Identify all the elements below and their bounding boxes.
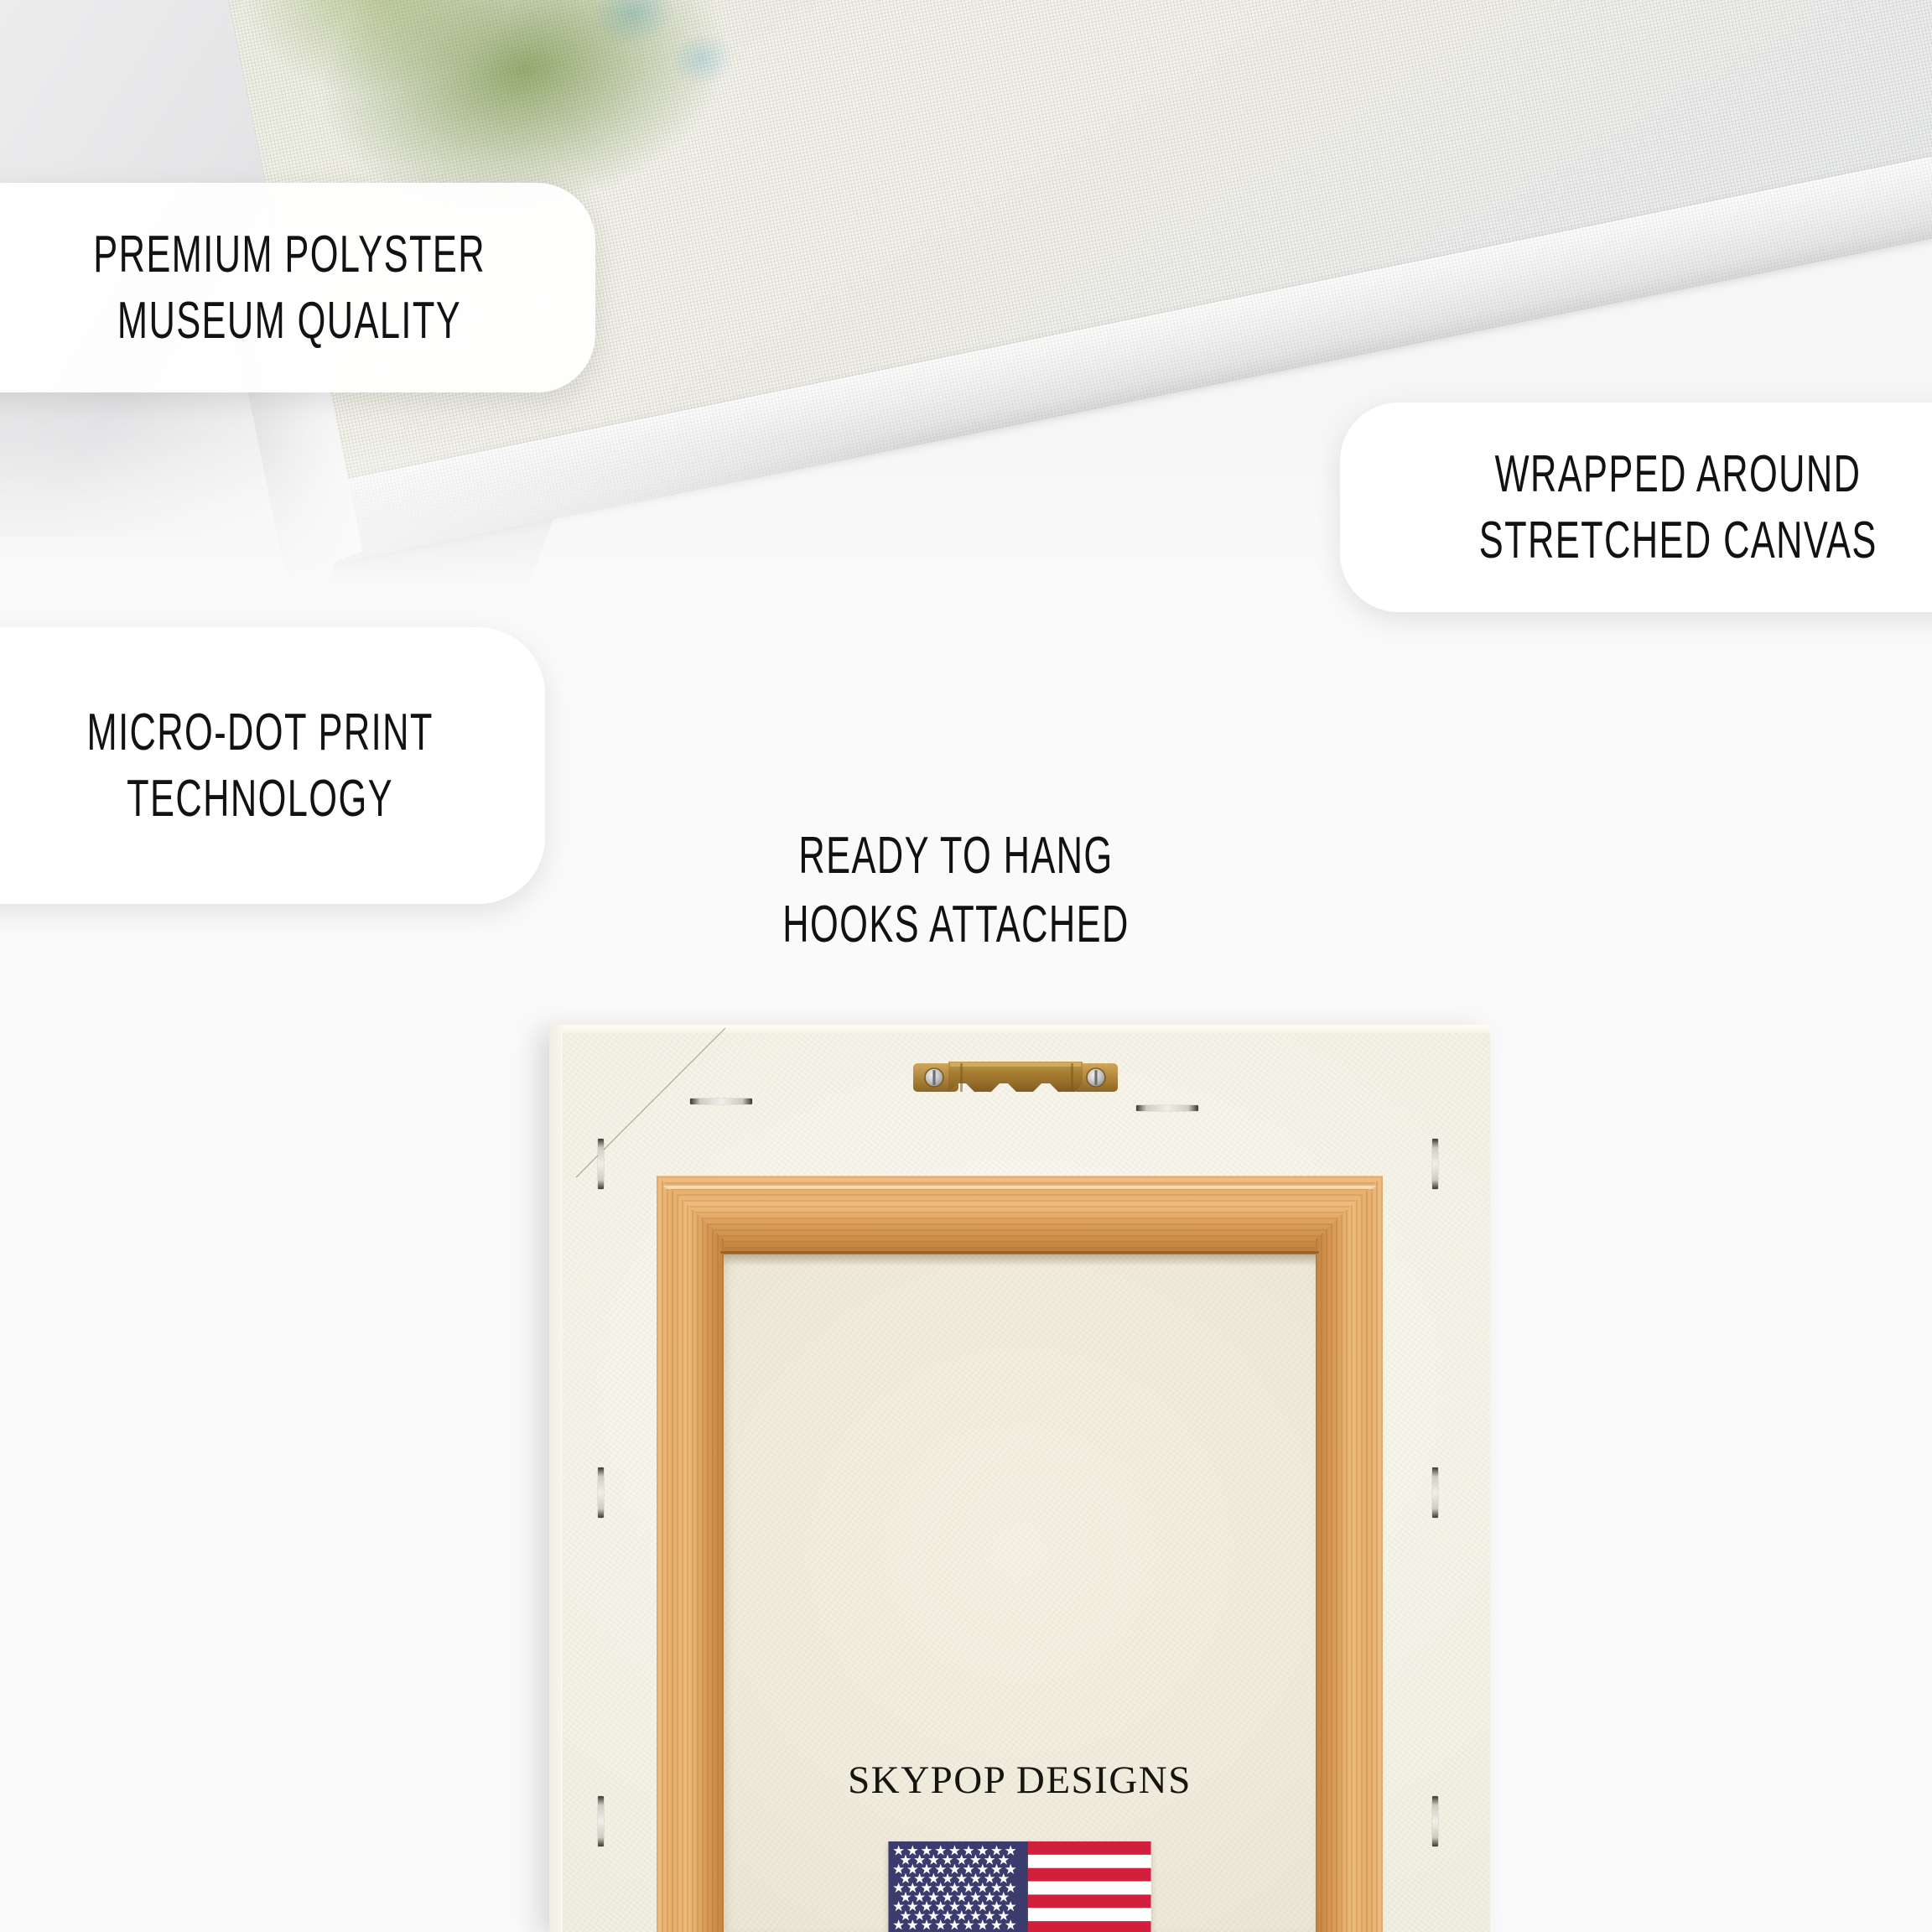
staple-icon bbox=[1136, 1105, 1198, 1111]
staple-icon bbox=[598, 1139, 604, 1189]
stretcher-bar-right bbox=[1316, 1176, 1383, 1932]
badge-microdot-line1: MICRO-DOT PRINT bbox=[86, 699, 433, 766]
caption-ready-to-hang: READY TO HANG HOOKS ATTACHED bbox=[587, 822, 1325, 959]
badge-wrapped-line1: WRAPPED AROUND bbox=[1495, 441, 1862, 507]
badge-premium-line2: MUSEUM QUALITY bbox=[117, 288, 461, 354]
caption-line1: READY TO HANG bbox=[698, 822, 1214, 891]
badge-microdot-line2: TECHNOLOGY bbox=[127, 766, 393, 832]
canvas-back-photo: SKYPOP DESIGNS bbox=[549, 1025, 1490, 1932]
staple-icon bbox=[598, 1467, 604, 1518]
stretcher-seam bbox=[720, 1251, 1319, 1254]
badge-premium-polyster: PREMIUM POLYSTER MUSEUM QUALITY bbox=[0, 183, 595, 392]
badge-micro-dot-print: MICRO-DOT PRINT TECHNOLOGY bbox=[0, 627, 545, 904]
hanger-icon bbox=[913, 1058, 1118, 1105]
inner-panel-shadow bbox=[724, 1254, 1316, 1266]
badge-wrapped-line2: STRETCHED CANVAS bbox=[1479, 507, 1877, 574]
staple-icon bbox=[598, 1796, 604, 1846]
caption-line2: HOOKS ATTACHED bbox=[698, 891, 1214, 959]
canvas-back-surface: SKYPOP DESIGNS bbox=[549, 1025, 1490, 1932]
canvas-inner-panel: SKYPOP DESIGNS bbox=[724, 1254, 1316, 1932]
badge-premium-line1: PREMIUM POLYSTER bbox=[93, 221, 486, 288]
brand-name: SKYPOP DESIGNS bbox=[724, 1758, 1316, 1803]
stretcher-bar-left bbox=[657, 1176, 724, 1932]
us-flag-icon bbox=[888, 1841, 1151, 1932]
wooden-stretcher-frame: SKYPOP DESIGNS bbox=[657, 1176, 1383, 1932]
infographic-canvas: PREMIUM POLYSTER MUSEUM QUALITY WRAPPED … bbox=[0, 0, 1932, 1932]
staple-icon bbox=[1432, 1796, 1438, 1846]
staple-icon bbox=[1432, 1467, 1438, 1518]
inner-panel-grain bbox=[724, 1254, 1316, 1932]
staple-icon bbox=[690, 1098, 752, 1104]
stretcher-highlight bbox=[663, 1186, 1376, 1189]
badge-wrapped-around: WRAPPED AROUND STRETCHED CANVAS bbox=[1340, 402, 1932, 612]
staple-icon bbox=[1432, 1139, 1438, 1189]
